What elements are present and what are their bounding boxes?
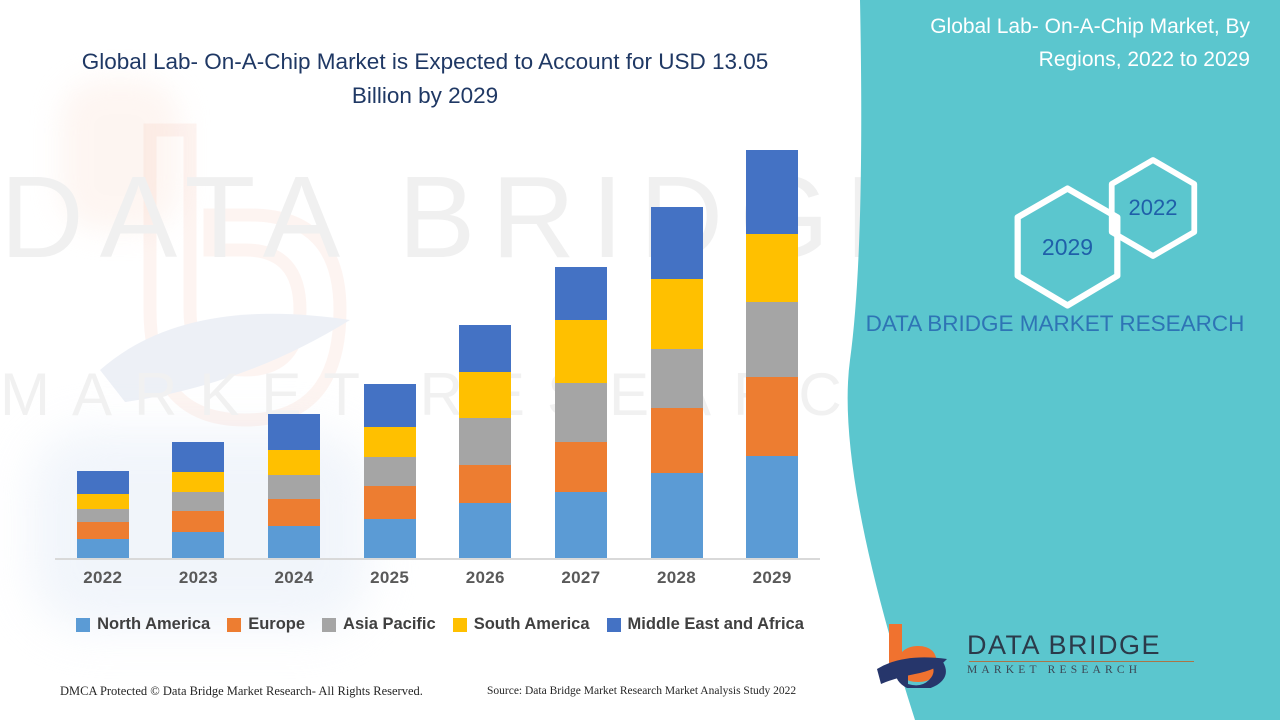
legend-item[interactable]: Middle East and Africa [607,615,804,634]
legend-label: Europe [248,615,305,634]
data-bridge-logo-icon [875,622,957,688]
bar-segment [555,492,607,558]
bar-column [247,150,342,558]
bar-column [342,150,437,558]
bar-column [533,150,628,558]
bar-segment [651,207,703,279]
bar-segment [172,511,224,533]
x-axis-tick-label: 2029 [725,568,820,598]
bar-segment [651,473,703,558]
logo-wordmark: DATA BRIDGE MARKET RESEARCH [967,630,1217,676]
bar-segment [172,442,224,472]
legend-swatch-icon [322,618,336,632]
bar-segment [364,519,416,558]
logo-tagline: MARKET RESEARCH [967,664,1217,676]
x-axis-tick-label: 2028 [629,568,724,598]
bar-column [629,150,724,558]
bar-segment [459,418,511,465]
bar-segment [459,465,511,503]
bar-segment [364,486,416,519]
x-axis-tick-label: 2024 [247,568,342,598]
bar-segment [172,472,224,492]
legend-swatch-icon [76,618,90,632]
bar-segment [651,279,703,349]
bar-segment [268,475,320,498]
bar-segment [746,234,798,303]
bar-segment [77,539,129,558]
bar-segment [651,408,703,472]
bar-segment [459,503,511,558]
legend-item[interactable]: South America [453,615,590,634]
bar-column [55,150,150,558]
bar-column [725,150,820,558]
company-logo: DATA BRIDGE MARKET RESEARCH [875,622,1235,694]
bar-segment [555,442,607,492]
brand-name: DATA BRIDGE MARKET RESEARCH [860,308,1250,340]
dmca-notice: DMCA Protected © Data Bridge Market Rese… [60,684,423,699]
bar-segment [746,302,798,376]
x-axis-tick-label: 2027 [533,568,628,598]
panel-title: Global Lab- On-A-Chip Market, By Regions… [860,10,1250,76]
hexagon-label-start: 2022 [1129,195,1178,221]
bar-segment [172,492,224,510]
bar-segment [172,532,224,558]
bar-segment [364,457,416,486]
bar-segment [555,320,607,383]
source-note: Source: Data Bridge Market Research Mark… [487,685,796,697]
stacked-bar [555,267,607,558]
legend-item[interactable]: Europe [227,615,305,634]
brand-panel: Global Lab- On-A-Chip Market, By Regions… [830,0,1280,720]
bar-segment [268,499,320,527]
x-axis-line [55,558,820,560]
bar-segment [746,150,798,233]
logo-name: DATA BRIDGE [967,630,1217,660]
stacked-bar [364,384,416,558]
legend-label: South America [474,615,590,634]
stacked-bar [651,207,703,558]
panel-shape [830,0,1280,720]
x-axis-tick-label: 2022 [55,568,150,598]
infographic-slide: DATA BRIDGE MARKET RESEARCH Global Lab- … [0,0,1280,720]
hexagon-label-end: 2029 [1042,234,1093,261]
bar-segment [268,414,320,450]
legend-swatch-icon [607,618,621,632]
chart-title: Global Lab- On-A-Chip Market is Expected… [55,45,795,113]
bar-segment [77,522,129,538]
bar-column [151,150,246,558]
legend-label: Asia Pacific [343,615,436,634]
legend-item[interactable]: Asia Pacific [322,615,436,634]
bar-segment [459,372,511,418]
bar-segment [77,471,129,495]
bar-chart-plot [55,150,820,558]
stacked-bar [172,442,224,558]
bar-segment [746,456,798,558]
bar-segment [364,384,416,427]
bar-segment [555,383,607,442]
x-axis-tick-label: 2023 [151,568,246,598]
x-axis-tick-label: 2025 [342,568,437,598]
bar-segment [364,427,416,458]
x-axis-tick-label: 2026 [438,568,533,598]
chart-legend: North AmericaEuropeAsia PacificSouth Ame… [55,615,825,634]
bar-segment [746,377,798,457]
legend-swatch-icon [227,618,241,632]
hexagon-badge-2029: 2029 [1010,183,1125,311]
bar-segment [268,450,320,475]
stacked-bar [268,414,320,558]
hexagon-group: 2022 2029 [985,155,1235,290]
bar-segment [77,509,129,522]
bar-segment [268,526,320,558]
bar-column [438,150,533,558]
bar-segment [459,325,511,372]
legend-label: North America [97,615,210,634]
bar-segment [77,494,129,509]
legend-item[interactable]: North America [76,615,210,634]
legend-label: Middle East and Africa [628,615,804,634]
logo-divider [969,661,1194,662]
stacked-bar [746,150,798,558]
bar-segment [651,349,703,408]
x-axis-labels: 20222023202420252026202720282029 [55,568,820,598]
bar-segment [555,267,607,320]
stacked-bar [77,470,129,558]
stacked-bar [459,325,511,558]
legend-swatch-icon [453,618,467,632]
